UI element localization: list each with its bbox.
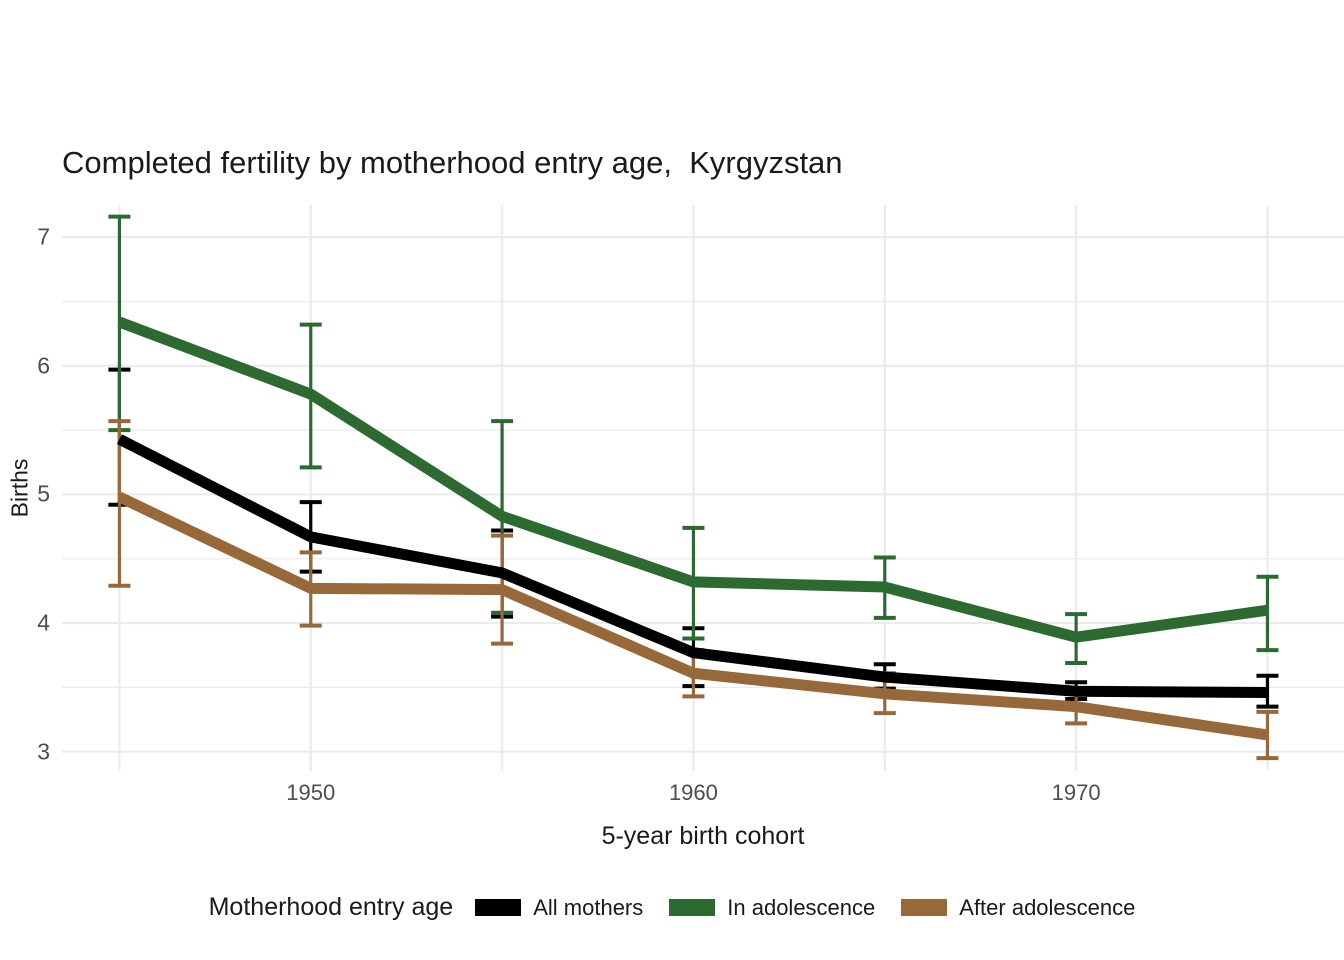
legend-key-all-mothers: [475, 899, 521, 916]
x-tick-label: 1950: [286, 780, 335, 806]
chart-title: Completed fertility by motherhood entry …: [62, 145, 843, 181]
chart-canvas: Completed fertility by motherhood entry …: [0, 0, 1344, 960]
x-tick-label: 1970: [1052, 780, 1101, 806]
legend-item-all-mothers[interactable]: All mothers: [475, 895, 643, 921]
legend-label-all-mothers: All mothers: [533, 895, 643, 921]
chart-legend: Motherhood entry age All mothers In adol…: [0, 893, 1344, 922]
plot-area: [62, 205, 1344, 771]
x-axis-label: 5-year birth cohort: [62, 822, 1344, 851]
legend-label-in-adolescence: In adolescence: [727, 895, 875, 921]
legend-key-after-adolescence: [901, 899, 947, 916]
x-axis-tick-labels: 195019601970: [62, 780, 1344, 814]
x-tick-label: 1960: [669, 780, 718, 806]
legend-item-in-adolescence[interactable]: In adolescence: [669, 895, 875, 921]
legend-item-after-adolescence[interactable]: After adolescence: [901, 895, 1135, 921]
legend-title: Motherhood entry age: [209, 893, 454, 922]
plot-svg: [62, 205, 1344, 771]
legend-key-in-adolescence: [669, 899, 715, 916]
y-axis-label: Births: [0, 205, 40, 771]
y-axis-label-text: Births: [7, 459, 34, 518]
legend-label-after-adolescence: After adolescence: [959, 895, 1135, 921]
